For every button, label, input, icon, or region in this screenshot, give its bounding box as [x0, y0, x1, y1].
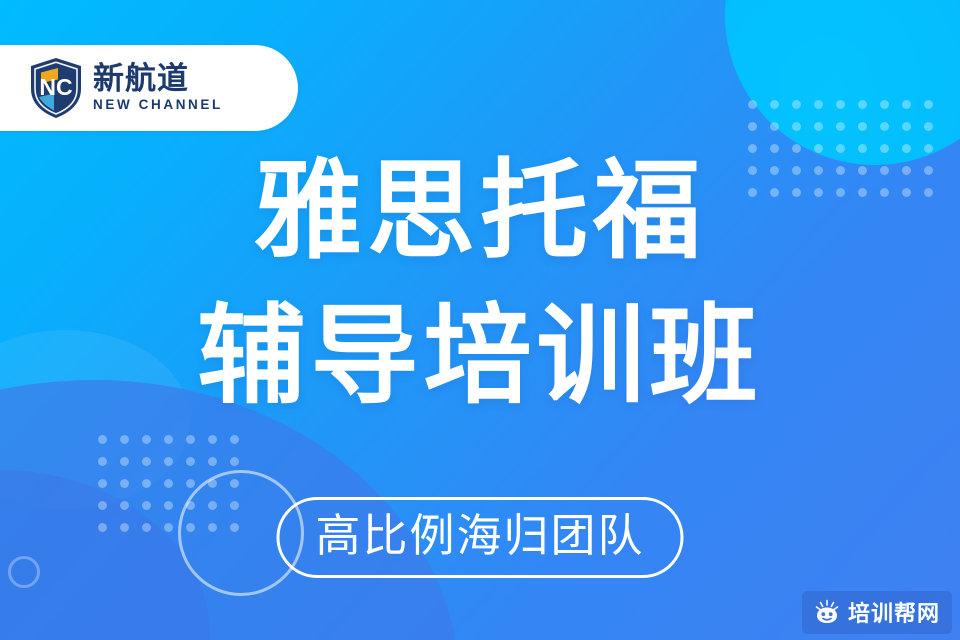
- decor-dot: [230, 457, 239, 466]
- decor-dot: [164, 523, 173, 532]
- decor-dot: [770, 122, 779, 131]
- decor-dot: [142, 457, 151, 466]
- decor-dot: [208, 457, 217, 466]
- decor-dot: [120, 479, 129, 488]
- decor-dot: [120, 501, 129, 510]
- decor-dot: [748, 122, 757, 131]
- decor-dot: [814, 100, 823, 109]
- watermark-badge: 培训帮网: [802, 591, 952, 634]
- decor-dot: [186, 501, 195, 510]
- decor-dot: [142, 523, 151, 532]
- decor-dot: [142, 479, 151, 488]
- decor-dot: [164, 479, 173, 488]
- headline-line-2: 辅导培训班: [0, 285, 960, 430]
- decor-dot: [792, 122, 801, 131]
- logo-english-name: NEW CHANNEL: [93, 97, 223, 112]
- decor-dot: [186, 523, 195, 532]
- decor-dot: [208, 479, 217, 488]
- decor-dot: [164, 501, 173, 510]
- decor-dot: [880, 100, 889, 109]
- decor-dot: [186, 479, 195, 488]
- decor-dot: [902, 122, 911, 131]
- decor-dot: [230, 435, 239, 444]
- poster-canvas: NC 新航道 NEW CHANNEL 雅思托福 辅导培训班 高比例海归团队: [0, 0, 960, 640]
- headline-block: 雅思托福 辅导培训班: [0, 140, 960, 429]
- brand-logo-badge: NC 新航道 NEW CHANNEL: [0, 45, 298, 131]
- decor-dot: [230, 523, 239, 532]
- decor-dot: [186, 435, 195, 444]
- decor-dot: [858, 100, 867, 109]
- decor-dot: [98, 457, 107, 466]
- decor-dot: [208, 523, 217, 532]
- sun-face-icon: [814, 599, 840, 625]
- decor-dot: [770, 100, 779, 109]
- decor-dot: [98, 501, 107, 510]
- decor-ring-small-left: [8, 556, 40, 588]
- decor-dot-grid-left: [98, 435, 252, 545]
- decor-dot: [120, 435, 129, 444]
- decor-dot: [98, 435, 107, 444]
- decor-dot: [230, 501, 239, 510]
- decor-dot: [748, 100, 757, 109]
- decor-dot: [142, 435, 151, 444]
- decor-dot: [858, 122, 867, 131]
- decor-dot: [230, 479, 239, 488]
- decor-dot: [208, 501, 217, 510]
- svg-text:NC: NC: [39, 74, 72, 100]
- decor-dot: [120, 523, 129, 532]
- decor-dot: [880, 122, 889, 131]
- decor-dot: [902, 100, 911, 109]
- decor-blob-bottom-left-secondary: [0, 470, 210, 640]
- decor-dot: [836, 100, 845, 109]
- logo-chinese-name: 新航道: [93, 64, 223, 96]
- decor-dot: [98, 523, 107, 532]
- decor-dot: [792, 100, 801, 109]
- decor-dot: [164, 457, 173, 466]
- subtitle-pill: 高比例海归团队: [276, 497, 683, 578]
- decor-dot: [836, 122, 845, 131]
- decor-dot: [120, 457, 129, 466]
- decor-dot: [164, 435, 173, 444]
- decor-dot: [98, 479, 107, 488]
- watermark-text: 培训帮网: [848, 596, 940, 628]
- decor-dot: [924, 100, 933, 109]
- decor-dot: [208, 435, 217, 444]
- headline-line-1: 雅思托福: [0, 140, 960, 285]
- decor-dot: [924, 122, 933, 131]
- decor-dot: [186, 457, 195, 466]
- decor-dot: [142, 501, 151, 510]
- decor-dot: [814, 122, 823, 131]
- shield-icon: NC: [28, 57, 84, 119]
